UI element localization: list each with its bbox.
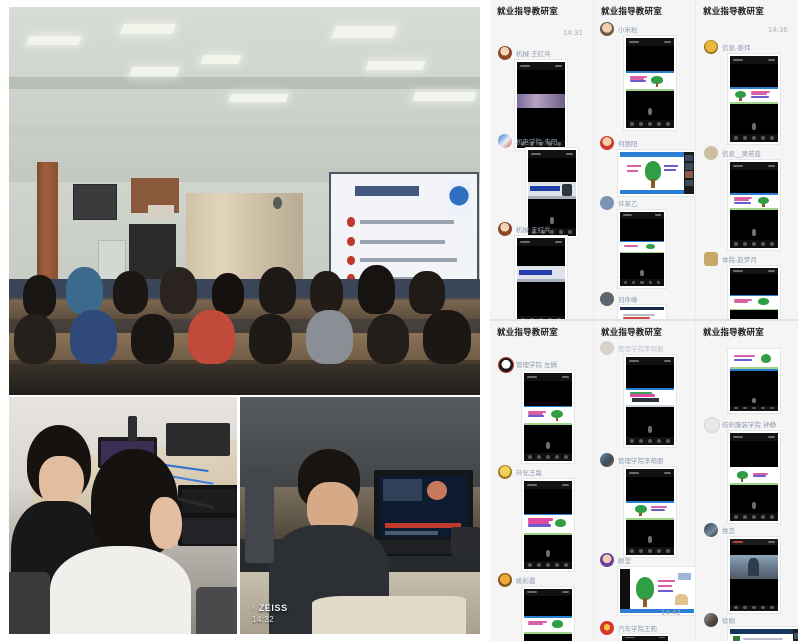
avatar[interactable]	[704, 40, 718, 54]
sender-name: 汽车学院王莉	[618, 623, 657, 633]
shared-screenshot[interactable]	[624, 355, 676, 447]
chat-timestamp: 14:36	[768, 26, 788, 34]
sender-name: 信息-姜玮	[722, 42, 750, 52]
chat-title: 就业指导教研室	[601, 5, 662, 17]
chat-title: 就业指导教研室	[497, 326, 558, 338]
shared-screenshot[interactable]	[728, 627, 798, 641]
shared-screenshot[interactable]	[515, 236, 567, 320]
avatar[interactable]	[498, 46, 512, 60]
sender-name: 环化王磊	[516, 467, 542, 477]
avatar[interactable]	[600, 196, 614, 210]
shared-screenshot[interactable]	[728, 54, 780, 144]
shared-screenshot[interactable]	[618, 150, 695, 196]
sender-name: 刘件峰	[618, 294, 638, 304]
shared-screenshot[interactable]	[522, 371, 574, 463]
chat-cell-5[interactable]: 就业指导教研室 管理学院李萌丽	[594, 321, 695, 641]
avatar[interactable]	[498, 573, 512, 587]
shared-screenshot[interactable]	[624, 36, 676, 130]
shared-screenshot[interactable]	[728, 266, 780, 320]
avatar[interactable]	[600, 22, 614, 36]
sender-name: 纺织服装学院 钟静	[722, 419, 776, 429]
watermark-brand: · ZEISS	[252, 603, 288, 613]
shared-screenshot[interactable]	[728, 349, 780, 413]
camera-watermark: · ZEISS 14:32	[252, 603, 288, 624]
avatar[interactable]	[600, 136, 614, 150]
photo-man-video-call: · ZEISS 14:32	[240, 397, 480, 634]
chat-cell-6[interactable]: 就业指导教研室	[696, 321, 798, 641]
chat-header: 就业指导教研室	[696, 0, 798, 24]
chat-header: 就业指导教研室	[490, 0, 593, 24]
shared-screenshot[interactable]	[618, 305, 666, 320]
shared-screenshot[interactable]	[618, 210, 666, 288]
sender-name: 小米粒	[618, 24, 638, 34]
chat-cell-2[interactable]: 就业指导教研室 小米粒	[594, 0, 695, 320]
chat-timestamp: 14:42	[661, 609, 681, 617]
sender-name: 机电学院-朱阳	[516, 136, 557, 146]
shared-screenshot[interactable]	[728, 160, 780, 250]
shared-screenshot[interactable]	[522, 479, 574, 571]
sender-name: 何丽阳	[618, 138, 638, 148]
chat-title: 就业指导教研室	[601, 326, 662, 338]
chat-cell-3[interactable]: 就业指导教研室 14:36 信息-姜玮	[696, 0, 798, 320]
shared-screenshot[interactable]	[522, 587, 574, 641]
avatar[interactable]	[498, 222, 512, 236]
chat-header: 就业指导教研室	[696, 321, 798, 345]
chat-title: 就业指导教研室	[497, 5, 558, 17]
chat-header: 就业指导教研室	[490, 321, 593, 345]
sender-name: 体院-赵梦月	[722, 254, 757, 264]
chat-cell-4[interactable]: 就业指导教研室 管理学院 左婿	[490, 321, 593, 641]
avatar[interactable]	[704, 523, 718, 537]
event-photo-collage: · ZEISS 14:32	[0, 0, 490, 641]
avatar[interactable]	[600, 553, 614, 567]
avatar[interactable]	[704, 252, 718, 266]
chat-title: 就业指导教研室	[703, 326, 764, 338]
sender-name: 许某乙	[618, 198, 638, 208]
chat-cell-1[interactable]: 就业指导教研室 14:31 机械 王红兵	[490, 0, 593, 320]
sender-name: 管理学院李萌丽	[618, 455, 664, 465]
avatar[interactable]	[704, 417, 720, 433]
avatar[interactable]	[600, 341, 614, 355]
shared-screenshot[interactable]	[728, 537, 780, 613]
avatar[interactable]	[498, 134, 512, 148]
shared-screenshot[interactable]	[624, 467, 676, 557]
watermark-time: 14:32	[252, 615, 288, 624]
avatar[interactable]	[498, 357, 514, 373]
sender-name: 顾莹	[618, 555, 631, 565]
avatar[interactable]	[600, 621, 614, 635]
shared-screenshot[interactable]	[728, 431, 780, 523]
photo-lecture-hall	[9, 7, 480, 395]
avatar[interactable]	[600, 292, 614, 306]
avatar[interactable]	[600, 453, 614, 467]
shared-screenshot[interactable]	[618, 567, 695, 615]
shared-screenshot[interactable]	[620, 634, 670, 641]
sender-name: 管理学院 左婿	[516, 359, 557, 369]
chat-timestamp: 14:31	[563, 29, 583, 37]
sender-name: 徐刚	[722, 615, 735, 625]
sender-name: 机械 王红兵	[516, 48, 551, 58]
wechat-screenshot-grid: 就业指导教研室 14:31 机械 王红兵	[490, 0, 798, 641]
avatar[interactable]	[704, 146, 718, 160]
chat-title: 就业指导教研室	[703, 5, 764, 17]
sender-name: 姚彩霞	[516, 575, 536, 585]
avatar[interactable]	[498, 465, 512, 479]
sender-name: 管理学院李萌丽	[618, 343, 664, 353]
sender-name: 信息__吴若蓝	[722, 148, 761, 158]
screenshot-root: · ZEISS 14:32 就业指导教研室 14:31 机械 王红兵	[0, 0, 798, 641]
avatar[interactable]	[704, 613, 718, 627]
photo-students-laptops	[9, 397, 237, 634]
sender-name: 挽恋	[722, 525, 735, 535]
chat-header: 就业指导教研室	[594, 0, 695, 24]
sender-name: 机械 王红兵	[516, 224, 551, 234]
